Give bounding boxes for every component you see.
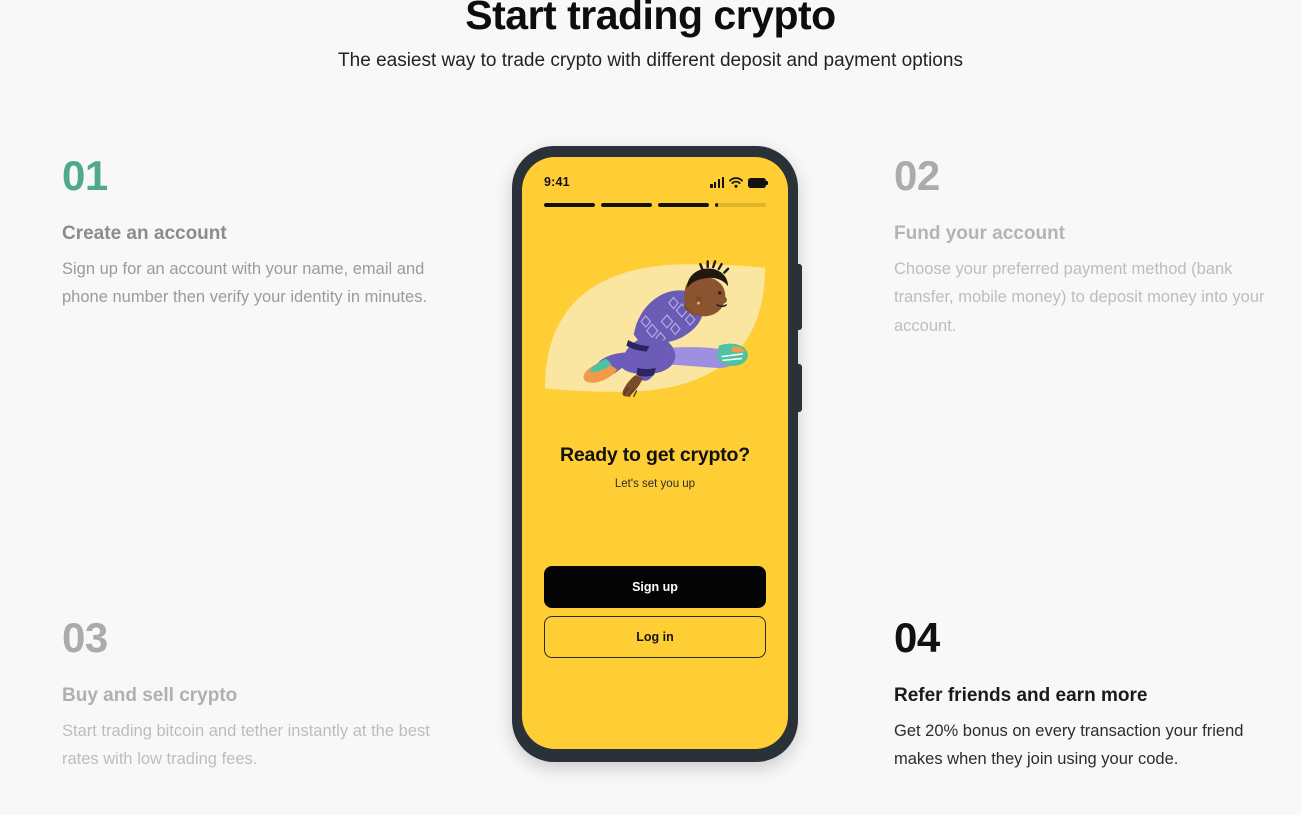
screen-subheadline: Let's set you up bbox=[522, 478, 788, 490]
step-body-03: Start trading bitcoin and tether instant… bbox=[62, 717, 442, 774]
step-heading-03: Buy and sell crypto bbox=[62, 685, 442, 708]
status-bar: 9:41 bbox=[522, 173, 788, 191]
cellular-signal-icon bbox=[710, 177, 724, 188]
step-card-02: 02 Fund your account Choose your preferr… bbox=[894, 155, 1274, 340]
sign-up-button-wrapper: Sign up bbox=[544, 566, 766, 608]
phone-screen: 9:41 bbox=[522, 157, 788, 749]
step-card-01: 01 Create an account Sign up for an acco… bbox=[62, 155, 442, 312]
start-trading-crypto-section: Start trading crypto The easiest way to … bbox=[0, 0, 1301, 815]
progress-segment-3 bbox=[658, 203, 709, 207]
step-body-01: Sign up for an account with your name, e… bbox=[62, 255, 442, 312]
status-bar-icons bbox=[710, 177, 766, 188]
battery-icon bbox=[748, 178, 766, 188]
progress-segment-4 bbox=[715, 203, 766, 207]
page-title: Start trading crypto bbox=[0, 0, 1301, 39]
step-heading-01: Create an account bbox=[62, 223, 442, 246]
progress-segment-2 bbox=[601, 203, 652, 207]
screen-headline: Ready to get crypto? bbox=[522, 444, 788, 467]
step-heading-04: Refer friends and earn more bbox=[894, 685, 1274, 708]
step-number-02: 02 bbox=[894, 155, 1274, 197]
step-number-04: 04 bbox=[894, 617, 1274, 659]
onboarding-progress-bar bbox=[544, 203, 766, 207]
page-subtitle: The easiest way to trade crypto with dif… bbox=[0, 50, 1301, 72]
step-body-02: Choose your preferred payment method (ba… bbox=[894, 255, 1274, 340]
phone-volume-button[interactable] bbox=[796, 264, 802, 330]
step-heading-02: Fund your account bbox=[894, 223, 1274, 246]
sign-up-button[interactable]: Sign up bbox=[544, 566, 766, 608]
step-card-03: 03 Buy and sell crypto Start trading bit… bbox=[62, 617, 442, 774]
step-card-04: 04 Refer friends and earn more Get 20% b… bbox=[894, 617, 1274, 774]
hero-illustration bbox=[532, 243, 778, 413]
status-bar-clock: 9:41 bbox=[544, 175, 570, 189]
log-in-button-wrapper: Log in bbox=[544, 616, 766, 658]
phone-mockup: 9:41 bbox=[512, 146, 798, 762]
step-number-03: 03 bbox=[62, 617, 442, 659]
log-in-button[interactable]: Log in bbox=[544, 616, 766, 658]
step-number-01: 01 bbox=[62, 155, 442, 197]
phone-power-button[interactable] bbox=[796, 364, 802, 412]
wifi-icon bbox=[729, 177, 743, 188]
step-body-04: Get 20% bonus on every transaction your … bbox=[894, 717, 1274, 774]
progress-segment-1 bbox=[544, 203, 595, 207]
